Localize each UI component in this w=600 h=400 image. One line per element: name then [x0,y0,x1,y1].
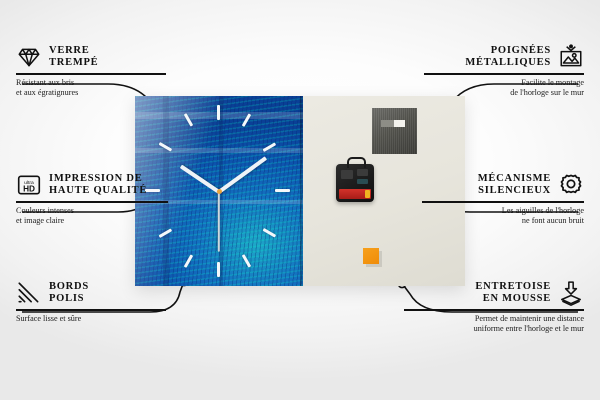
feature-entretoise-mousse: ENTRETOISE EN MOUSSE Permet de maintenir… [404,280,584,333]
feature-bords-polis: BORDS POLIS Surface lisse et sûre [16,280,166,324]
quartz-mechanism [336,164,374,202]
feature-mecanisme-silencieux: MÉCANISME SILENCIEUX Les aiguilles de l'… [422,172,584,225]
ultra-hd-icon: ultra HD [16,172,42,198]
second-hand [218,192,220,252]
feature-impression-hd: ultra HD IMPRESSION DE HAUTE QUALITÉ Cou… [16,172,168,225]
feature-title: VERRE TREMPÉ [49,45,98,70]
feature-title: MÉCANISME SILENCIEUX [478,173,551,198]
gear-icon [558,172,584,198]
polished-edge-icon [16,280,42,306]
divider [424,73,584,75]
svg-text:HD: HD [23,185,35,194]
divider [422,201,584,203]
metal-hanger-bracket [372,108,417,154]
feature-description: Surface lisse et sûre [16,314,166,324]
feature-title: BORDS POLIS [49,281,89,306]
product-photo [135,96,465,286]
foam-spacer-icon [558,280,584,306]
divider [16,201,168,203]
feature-description: Permet de maintenir une distance uniform… [404,314,584,333]
divider [16,73,166,75]
feature-description: Résistant aux bris et aux égratignures [16,78,166,97]
divider [16,309,166,311]
feature-title: IMPRESSION DE HAUTE QUALITÉ [49,173,147,198]
infographic-canvas: VERRE TREMPÉ Résistant aux bris et aux é… [0,0,600,400]
diamond-icon [16,44,42,70]
divider [404,309,584,311]
feature-description: Les aiguilles de l'horloge ne font aucun… [422,206,584,225]
feature-description: Facilite le montage de l'horloge sur le … [424,78,584,97]
wall-hanger-frame-icon [558,44,584,70]
feature-poignees-metalliques: POIGNÉES MÉTALLIQUES Facilite le montage… [424,44,584,97]
feature-verre-trempe: VERRE TREMPÉ Résistant aux bris et aux é… [16,44,166,97]
feature-description: Couleurs intenses et image claire [16,206,168,225]
battery [339,189,371,199]
foam-spacer [363,248,379,264]
clock-hub [217,189,222,194]
feature-title: ENTRETOISE EN MOUSSE [475,281,551,306]
feature-title: POIGNÉES MÉTALLIQUES [465,45,551,70]
